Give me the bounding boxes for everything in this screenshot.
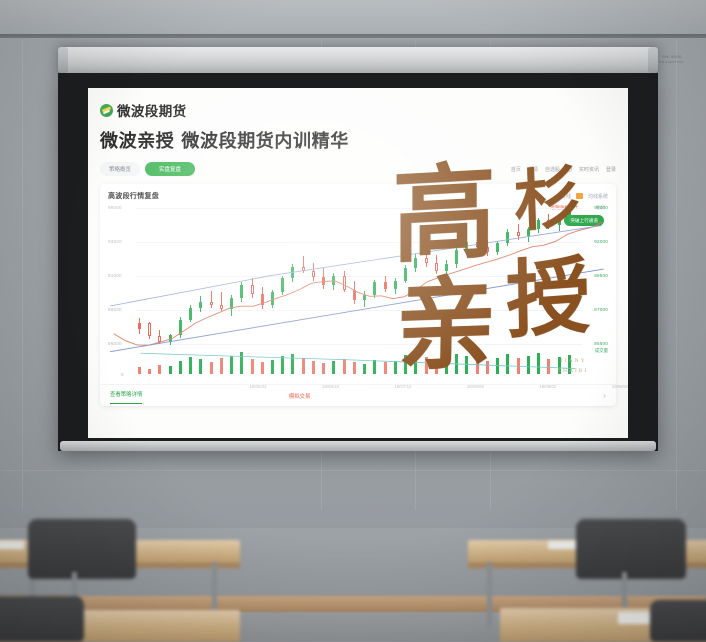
casing-model-label: RM-9000 PROJECTION bbox=[660, 54, 684, 65]
casing-end-cap-right bbox=[648, 47, 658, 73]
brand-name: 微波段期货 bbox=[117, 100, 187, 120]
tab-strategy-overview[interactable]: 策略概览 bbox=[100, 162, 140, 176]
view-strategy-link[interactable]: 查看策略详情 bbox=[110, 390, 142, 401]
page-title: 微波亲授微波段期货内训精华 bbox=[100, 127, 616, 153]
wall-panel-line bbox=[0, 470, 706, 471]
headline-part-1: 微波亲授 bbox=[100, 131, 174, 151]
tab-live-review[interactable]: 实盘复盘 bbox=[145, 162, 195, 176]
wall-seam bbox=[676, 40, 677, 510]
casing-end-cap-left bbox=[58, 47, 68, 73]
leaf-logo-icon bbox=[100, 104, 113, 117]
carpet-floor bbox=[0, 612, 706, 642]
latin-line-2: ZHAIBI bbox=[536, 366, 610, 376]
screen-bottom-bar bbox=[60, 441, 656, 451]
calligraphy-char-gao: 高 bbox=[392, 159, 496, 269]
calligraphy-char-qin: 亲 bbox=[395, 272, 497, 376]
wall-shadow bbox=[0, 520, 706, 600]
projected-slide[interactable]: 微波段期货 微波亲授微波段期货内训精华 策略概览 实盘复盘 首页 行情 自选股 … bbox=[88, 88, 628, 438]
casing-sub-text: PROJECTION bbox=[660, 60, 684, 65]
headline-part-2: 微波段期货内训精华 bbox=[181, 131, 348, 151]
latin-line-1: TIANY bbox=[536, 356, 610, 366]
brand-lockup: 微波段期货 bbox=[100, 100, 616, 120]
calligraphy-char-shan: 杉 bbox=[513, 162, 581, 235]
calligraphy-char-shou: 授 bbox=[505, 253, 590, 343]
wall-seam bbox=[22, 40, 23, 510]
chart-title: 高波段行情复盘 bbox=[108, 191, 159, 201]
calligraphy-block: 高 杉 亲 授 TIANY ZHAIBI bbox=[388, 156, 613, 416]
projector-screen-casing[interactable] bbox=[60, 47, 656, 73]
simulated-trading-link[interactable]: 模拟交易 bbox=[289, 392, 311, 400]
calligraphy-latin-text: TIANY ZHAIBI bbox=[536, 356, 610, 377]
